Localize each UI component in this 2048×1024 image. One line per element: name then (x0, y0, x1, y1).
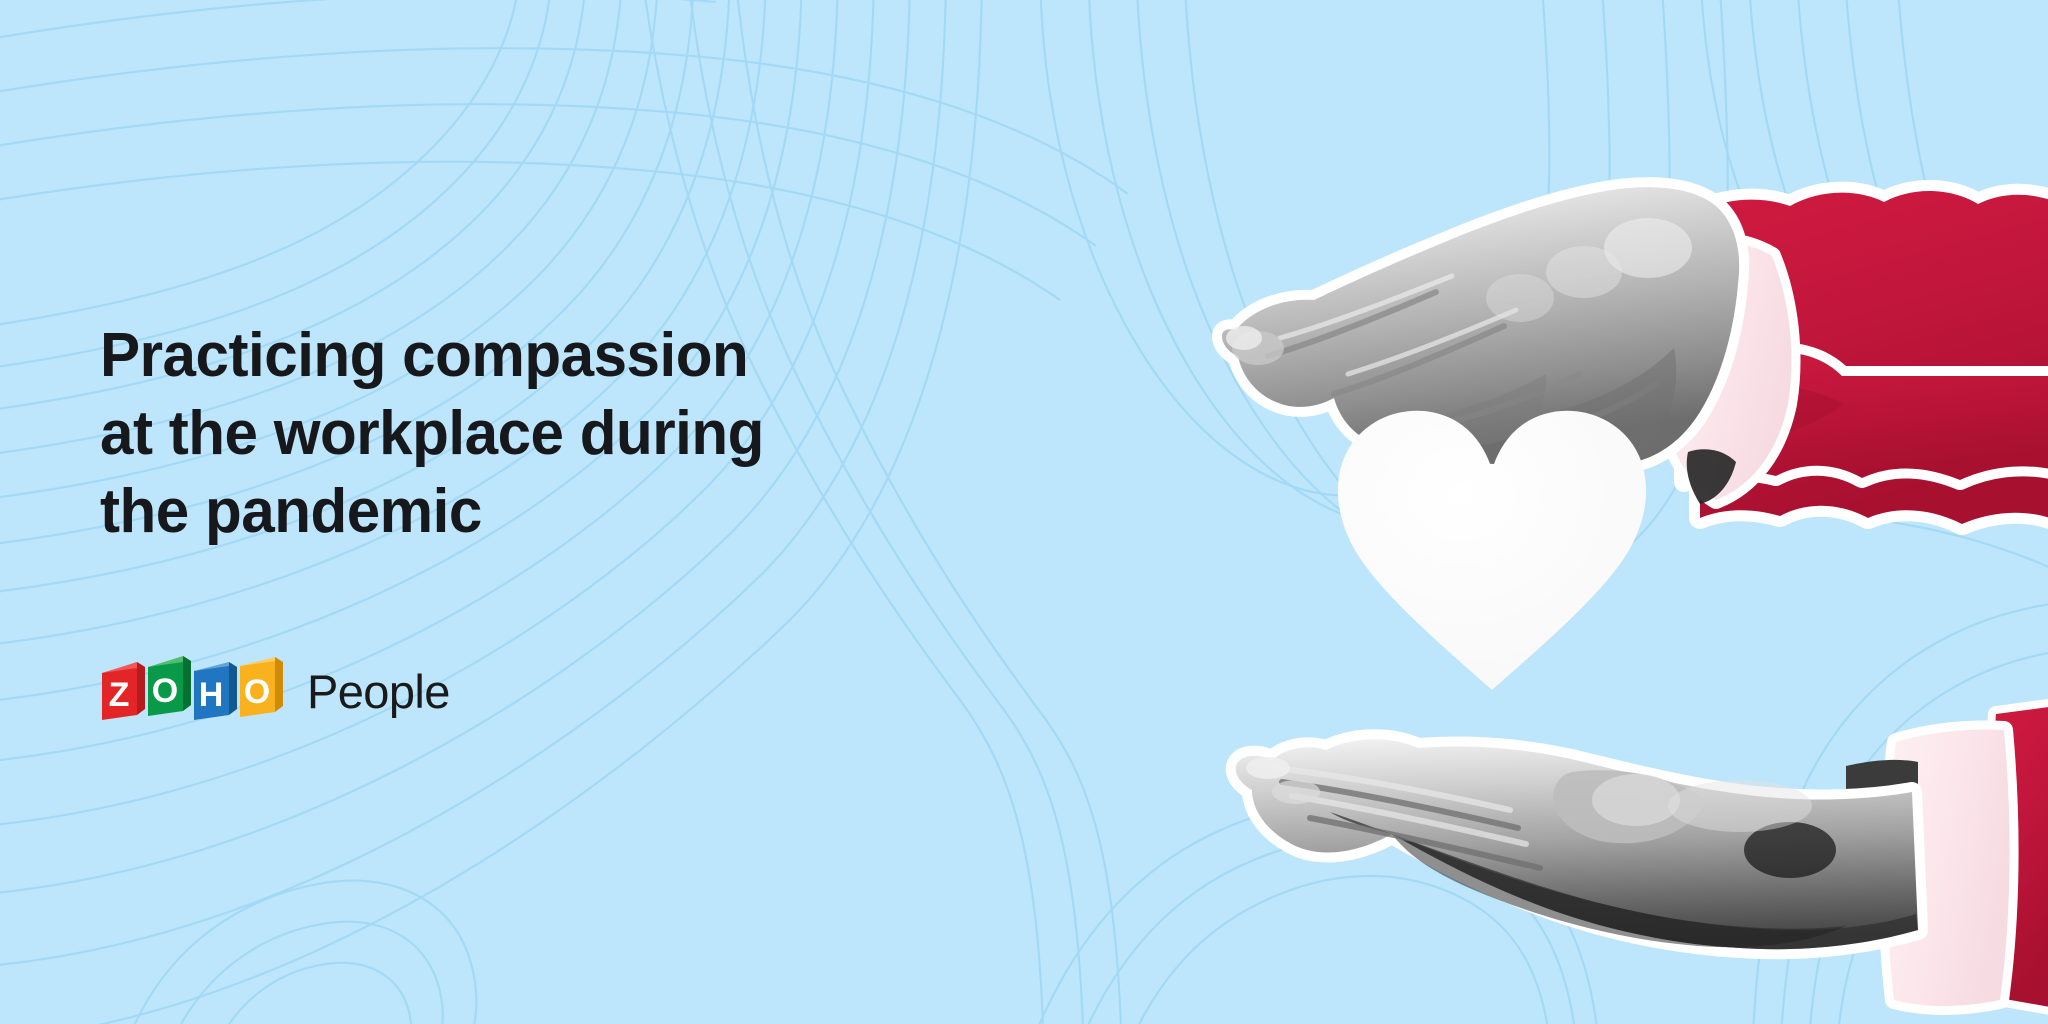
headline-line-1: Practicing compassion (100, 317, 895, 395)
upper-sleeve (1684, 191, 2048, 524)
artwork-description: Two grayscale cut-out hands cupping a wh… (0, 0, 1, 1)
lower-hand-group (1236, 706, 2048, 1008)
page-title: Practicing compassion at the workplace d… (100, 317, 920, 551)
upper-hand-group (1222, 187, 2048, 524)
svg-text:H: H (199, 676, 224, 714)
product-name-people: People (307, 668, 450, 715)
white-heart (1338, 411, 1646, 690)
zoho-tile-o1: O (148, 656, 191, 716)
headline-line-3: the pandemic (100, 473, 895, 551)
zoho-tile-h: H (194, 662, 237, 720)
lower-forearm-shadow (1846, 760, 1918, 926)
zoho-logo-icon: Z O H O (98, 652, 294, 728)
svg-text:O: O (152, 672, 178, 710)
lower-sleeve (1986, 706, 2048, 1008)
svg-text:O: O (244, 673, 270, 711)
hero-banner: Practicing compassion at the workplace d… (0, 0, 2048, 1024)
upper-cuff (1655, 241, 1792, 500)
lower-cuff (1887, 730, 2009, 1007)
zoho-people-logo[interactable]: Z O H O People (98, 652, 450, 728)
upper-hand-shape (1222, 187, 1739, 464)
upper-wrist-shadow (1687, 449, 1736, 504)
svg-text:Z: Z (109, 676, 130, 714)
zoho-tile-z: Z (102, 662, 145, 720)
zoho-tile-o2: O (240, 657, 283, 717)
headline-line-2: at the workplace during (100, 395, 895, 473)
lower-hand-shape (1236, 739, 1918, 949)
